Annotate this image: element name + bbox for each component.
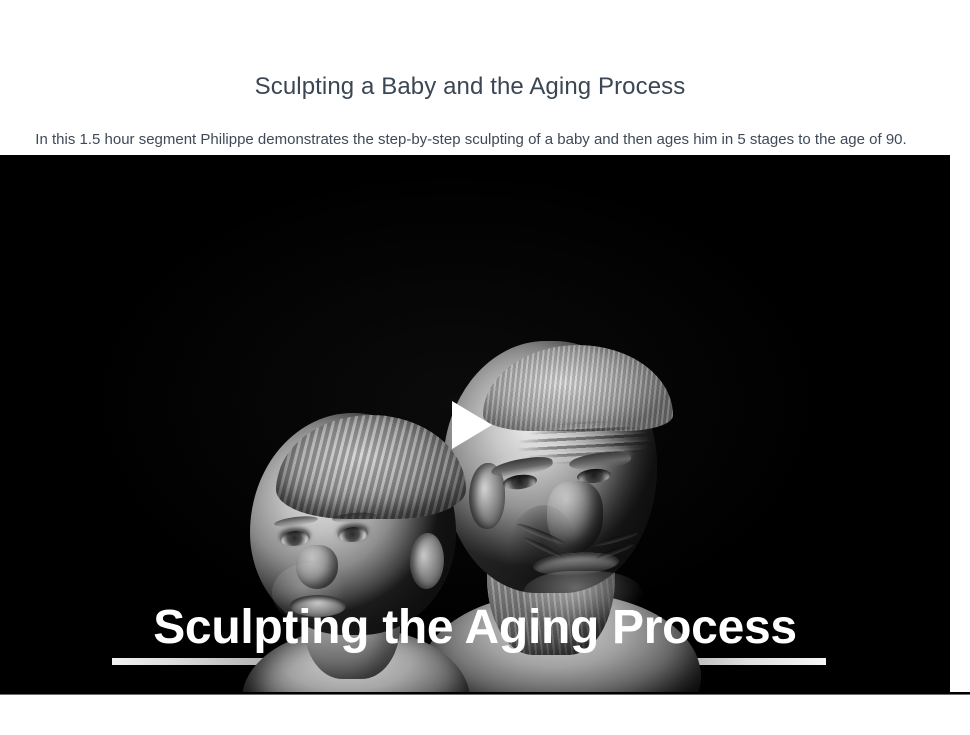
play-icon xyxy=(452,401,492,449)
baby-bust-hair xyxy=(276,415,466,519)
page-root: Sculpting a Baby and the Aging Process I… xyxy=(0,0,970,735)
baby-bust-eye-left xyxy=(280,530,311,547)
course-description: In this 1.5 hour segment Philippe demons… xyxy=(0,129,943,151)
video-overlay-title: Sculpting the Aging Process xyxy=(0,599,950,657)
video-bottom-edge xyxy=(0,692,970,695)
page-title: Sculpting a Baby and the Aging Process xyxy=(0,72,940,102)
baby-bust-nose xyxy=(296,545,338,589)
baby-bust-eye-right xyxy=(338,526,369,543)
video-stage: Sculpting the Aging Process xyxy=(0,155,950,694)
baby-bust-brow-left xyxy=(274,514,319,528)
video-player[interactable]: Sculpting the Aging Process xyxy=(0,155,950,694)
baby-bust-ear xyxy=(410,533,444,589)
play-button[interactable] xyxy=(452,401,494,449)
